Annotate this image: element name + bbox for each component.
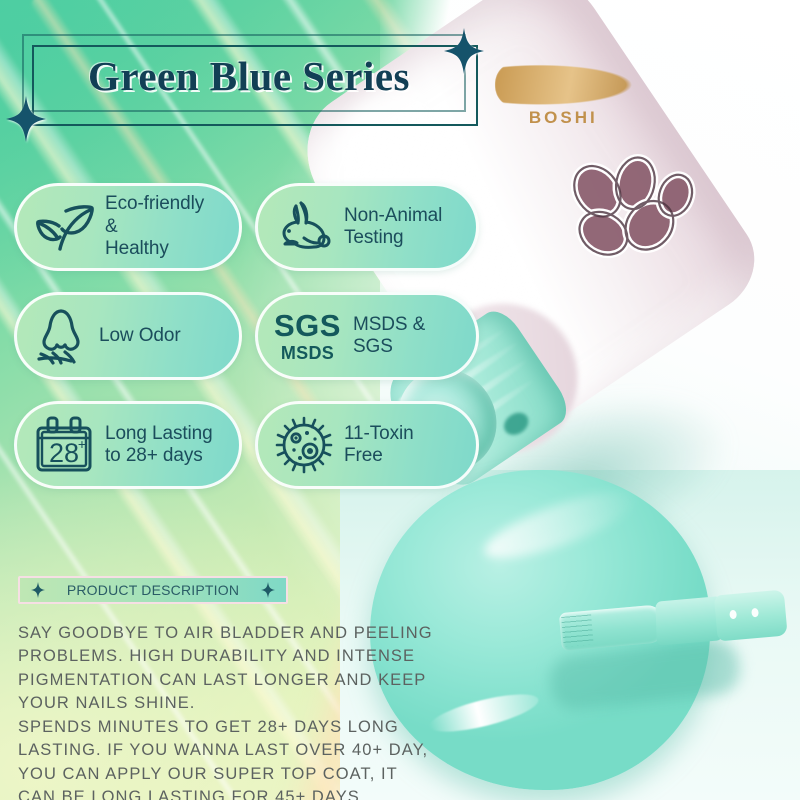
four-point-star-icon — [31, 582, 45, 598]
feature-badge-eco-friendly[interactable]: Eco-friendly &Healthy — [14, 183, 242, 271]
brand-logo-gold — [495, 62, 645, 108]
feature-badge-long-lasting[interactable]: 28 + Long Lastingto 28+ days — [14, 401, 242, 489]
brush-bristles — [559, 604, 666, 651]
nose-icon — [33, 307, 89, 365]
feature-label: Eco-friendly &Healthy — [105, 193, 219, 260]
feature-badge-toxin-free[interactable]: 11-Toxin Free — [255, 401, 479, 489]
product-description-title: PRODUCT DESCRIPTION — [45, 582, 261, 598]
svg-text:28: 28 — [49, 438, 79, 468]
title-block: Green Blue Series — [14, 34, 484, 132]
description-line: CAN BE LONG LASTING FOR 45+ DAYS. — [18, 786, 418, 800]
feature-badge-msds-sgs[interactable]: SGS MSDS MSDS & SGS — [255, 292, 479, 380]
description-line: SPENDS MINUTES TO GET 28+ DAYS LONG — [18, 716, 418, 739]
rabbit-icon — [274, 200, 334, 254]
leaf-icon — [33, 201, 95, 253]
feature-label: Non-AnimalTesting — [344, 205, 442, 250]
description-line: LASTING. IF YOU WANNA LAST OVER 40+ DAY, — [18, 739, 418, 762]
brand-subtext: BOSHI — [529, 108, 659, 126]
feature-row: Eco-friendly &Healthy — [14, 183, 494, 271]
germ-icon — [274, 416, 334, 474]
feature-badge-low-odor[interactable]: Low Odor — [14, 292, 242, 380]
sgs-msds-logo: SGS MSDS — [274, 310, 343, 362]
feature-label: Long Lastingto 28+ days — [105, 423, 213, 468]
feature-badge-non-animal-testing[interactable]: Non-AnimalTesting — [255, 183, 479, 271]
product-description-banner: PRODUCT DESCRIPTION — [18, 576, 288, 604]
feature-row: 28 + Long Lastingto 28+ days — [14, 401, 494, 489]
description-line: PIGMENTATION CAN LAST LONGER AND KEEP — [18, 669, 418, 692]
feature-row: Low Odor SGS MSDS MSDS & SGS — [14, 292, 494, 380]
feature-label: 11-Toxin Free — [344, 423, 456, 468]
four-point-star-icon — [6, 96, 46, 142]
feature-badge-grid: Eco-friendly &Healthy — [14, 183, 494, 510]
description-line: SAY GOODBYE TO AIR BLADDER AND PEELING — [18, 622, 418, 645]
poster-canvas: BOSHI — [0, 0, 800, 800]
description-line: PROBLEMS. HIGH DURABILITY AND INTENSE — [18, 645, 418, 668]
four-point-star-icon — [261, 582, 275, 598]
floral-graphic — [557, 151, 697, 271]
feature-label: Low Odor — [99, 325, 181, 347]
product-description-body: SAY GOODBYE TO AIR BLADDER AND PEELING P… — [18, 622, 418, 800]
brush-handle — [714, 590, 788, 642]
page-title: Green Blue Series — [14, 52, 484, 100]
svg-text:+: + — [78, 436, 86, 452]
description-line: YOUR NAILS SHINE. — [18, 692, 418, 715]
four-point-star-icon — [444, 28, 484, 74]
msds-logo-text: MSDS — [274, 344, 341, 362]
calendar-28-icon: 28 + — [33, 416, 95, 474]
brush-ferrule — [655, 596, 722, 646]
feature-label: MSDS & SGS — [353, 314, 456, 359]
description-line: YOU CAN APPLY OUR SUPER TOP COAT, IT — [18, 763, 418, 786]
sgs-logo-text: SGS — [274, 310, 341, 341]
